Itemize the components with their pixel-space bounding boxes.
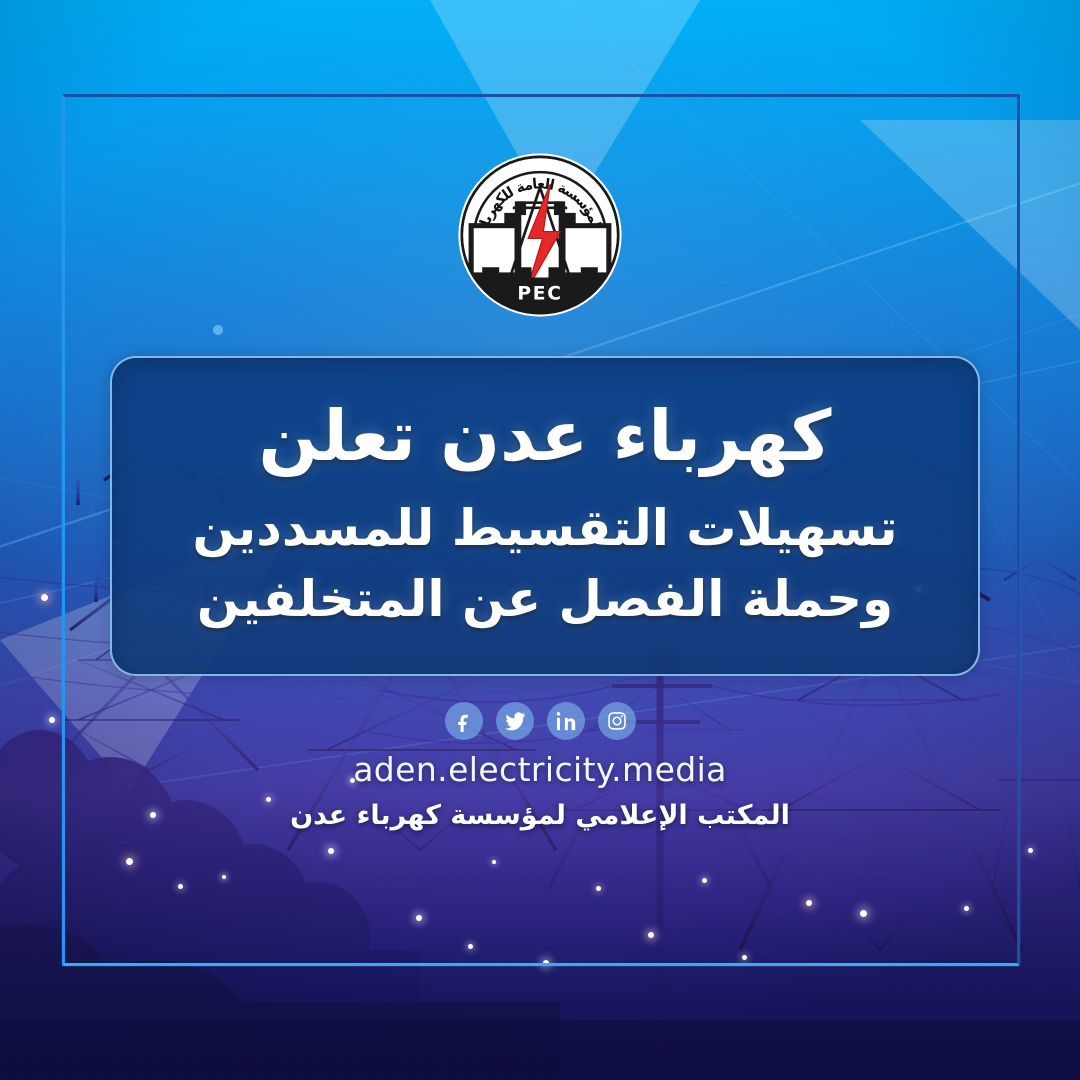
logo-acronym: PEC (517, 284, 562, 305)
headline-line-2: تسهيلات التقسيط للمسددين (192, 499, 897, 558)
linkedin-icon[interactable] (547, 702, 585, 740)
social-icons-row (0, 702, 1080, 740)
headline-panel: كهرباء عدن تعلن تسهيلات التقسيط للمسددين… (110, 356, 980, 676)
headline-line-1: كهرباء عدن تعلن (259, 399, 832, 473)
poster-canvas: المؤسسة العامة للكهرباء (0, 0, 1080, 1080)
twitter-icon[interactable] (496, 702, 534, 740)
facebook-icon[interactable] (445, 702, 483, 740)
headline-line-3: وحملة الفصل عن المتخلفين (197, 570, 893, 629)
pec-electricity-logo: المؤسسة العامة للكهرباء (455, 150, 625, 320)
instagram-icon[interactable] (598, 702, 636, 740)
media-office-label: المكتب الإعلامي لمؤسسة كهرباء عدن (0, 800, 1080, 831)
website-handle[interactable]: aden.electricity.media (0, 750, 1080, 789)
